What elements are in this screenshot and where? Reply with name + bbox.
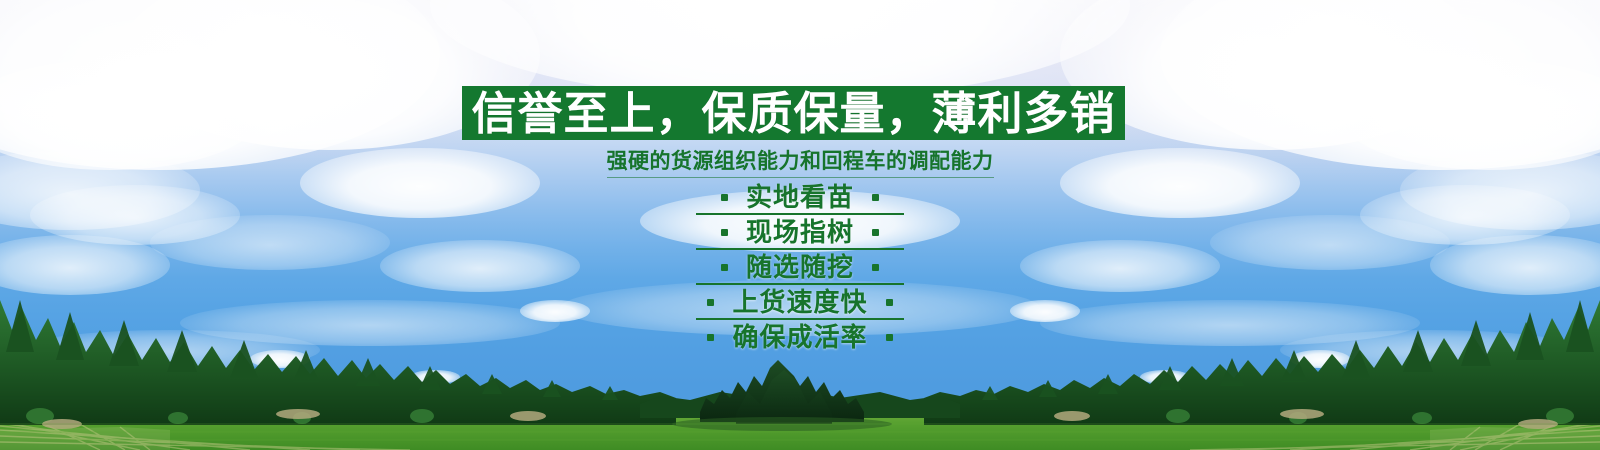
- bullet-dot-left-icon: [721, 264, 728, 271]
- bullet-dot-right-icon: [872, 194, 879, 201]
- feature-list: 实地看苗 现场指树 随选随挖 上货速度快: [0, 180, 1600, 355]
- bullet-dot-right-icon: [886, 299, 893, 306]
- subtitle-text: 强硬的货源组织能力和回程车的调配能力: [607, 149, 994, 178]
- feature-item-4: 上货速度快: [0, 285, 1600, 320]
- promo-banner: 信誉至上，保质保量，薄利多销 强硬的货源组织能力和回程车的调配能力 实地看苗 现…: [0, 0, 1600, 450]
- bullet-dot-left-icon: [721, 229, 728, 236]
- feature-item-2: 现场指树: [0, 215, 1600, 250]
- feature-item-1: 实地看苗: [0, 180, 1600, 215]
- bullet-dot-right-icon: [886, 334, 893, 341]
- subtitle-wrap: 强硬的货源组织能力和回程车的调配能力: [0, 149, 1600, 178]
- bullet-dot-left-icon: [707, 299, 714, 306]
- bullet-dot-left-icon: [721, 194, 728, 201]
- feature-item-3: 随选随挖: [0, 250, 1600, 285]
- headline-text: 信誉至上，保质保量，薄利多销: [471, 91, 1115, 136]
- feature-item-5: 确保成活率: [0, 320, 1600, 355]
- bullet-dot-left-icon: [707, 334, 714, 341]
- bullet-dot-right-icon: [872, 264, 879, 271]
- feature-label: 现场指树: [728, 220, 872, 246]
- banner-text-content: 信誉至上，保质保量，薄利多销 强硬的货源组织能力和回程车的调配能力 实地看苗 现…: [0, 0, 1600, 450]
- feature-label: 随选随挖: [728, 255, 872, 281]
- feature-label: 确保成活率: [714, 325, 885, 351]
- feature-label: 上货速度快: [714, 290, 885, 316]
- feature-label: 实地看苗: [728, 185, 872, 211]
- headline-banner: 信誉至上，保质保量，薄利多销: [462, 86, 1125, 140]
- bullet-dot-right-icon: [872, 229, 879, 236]
